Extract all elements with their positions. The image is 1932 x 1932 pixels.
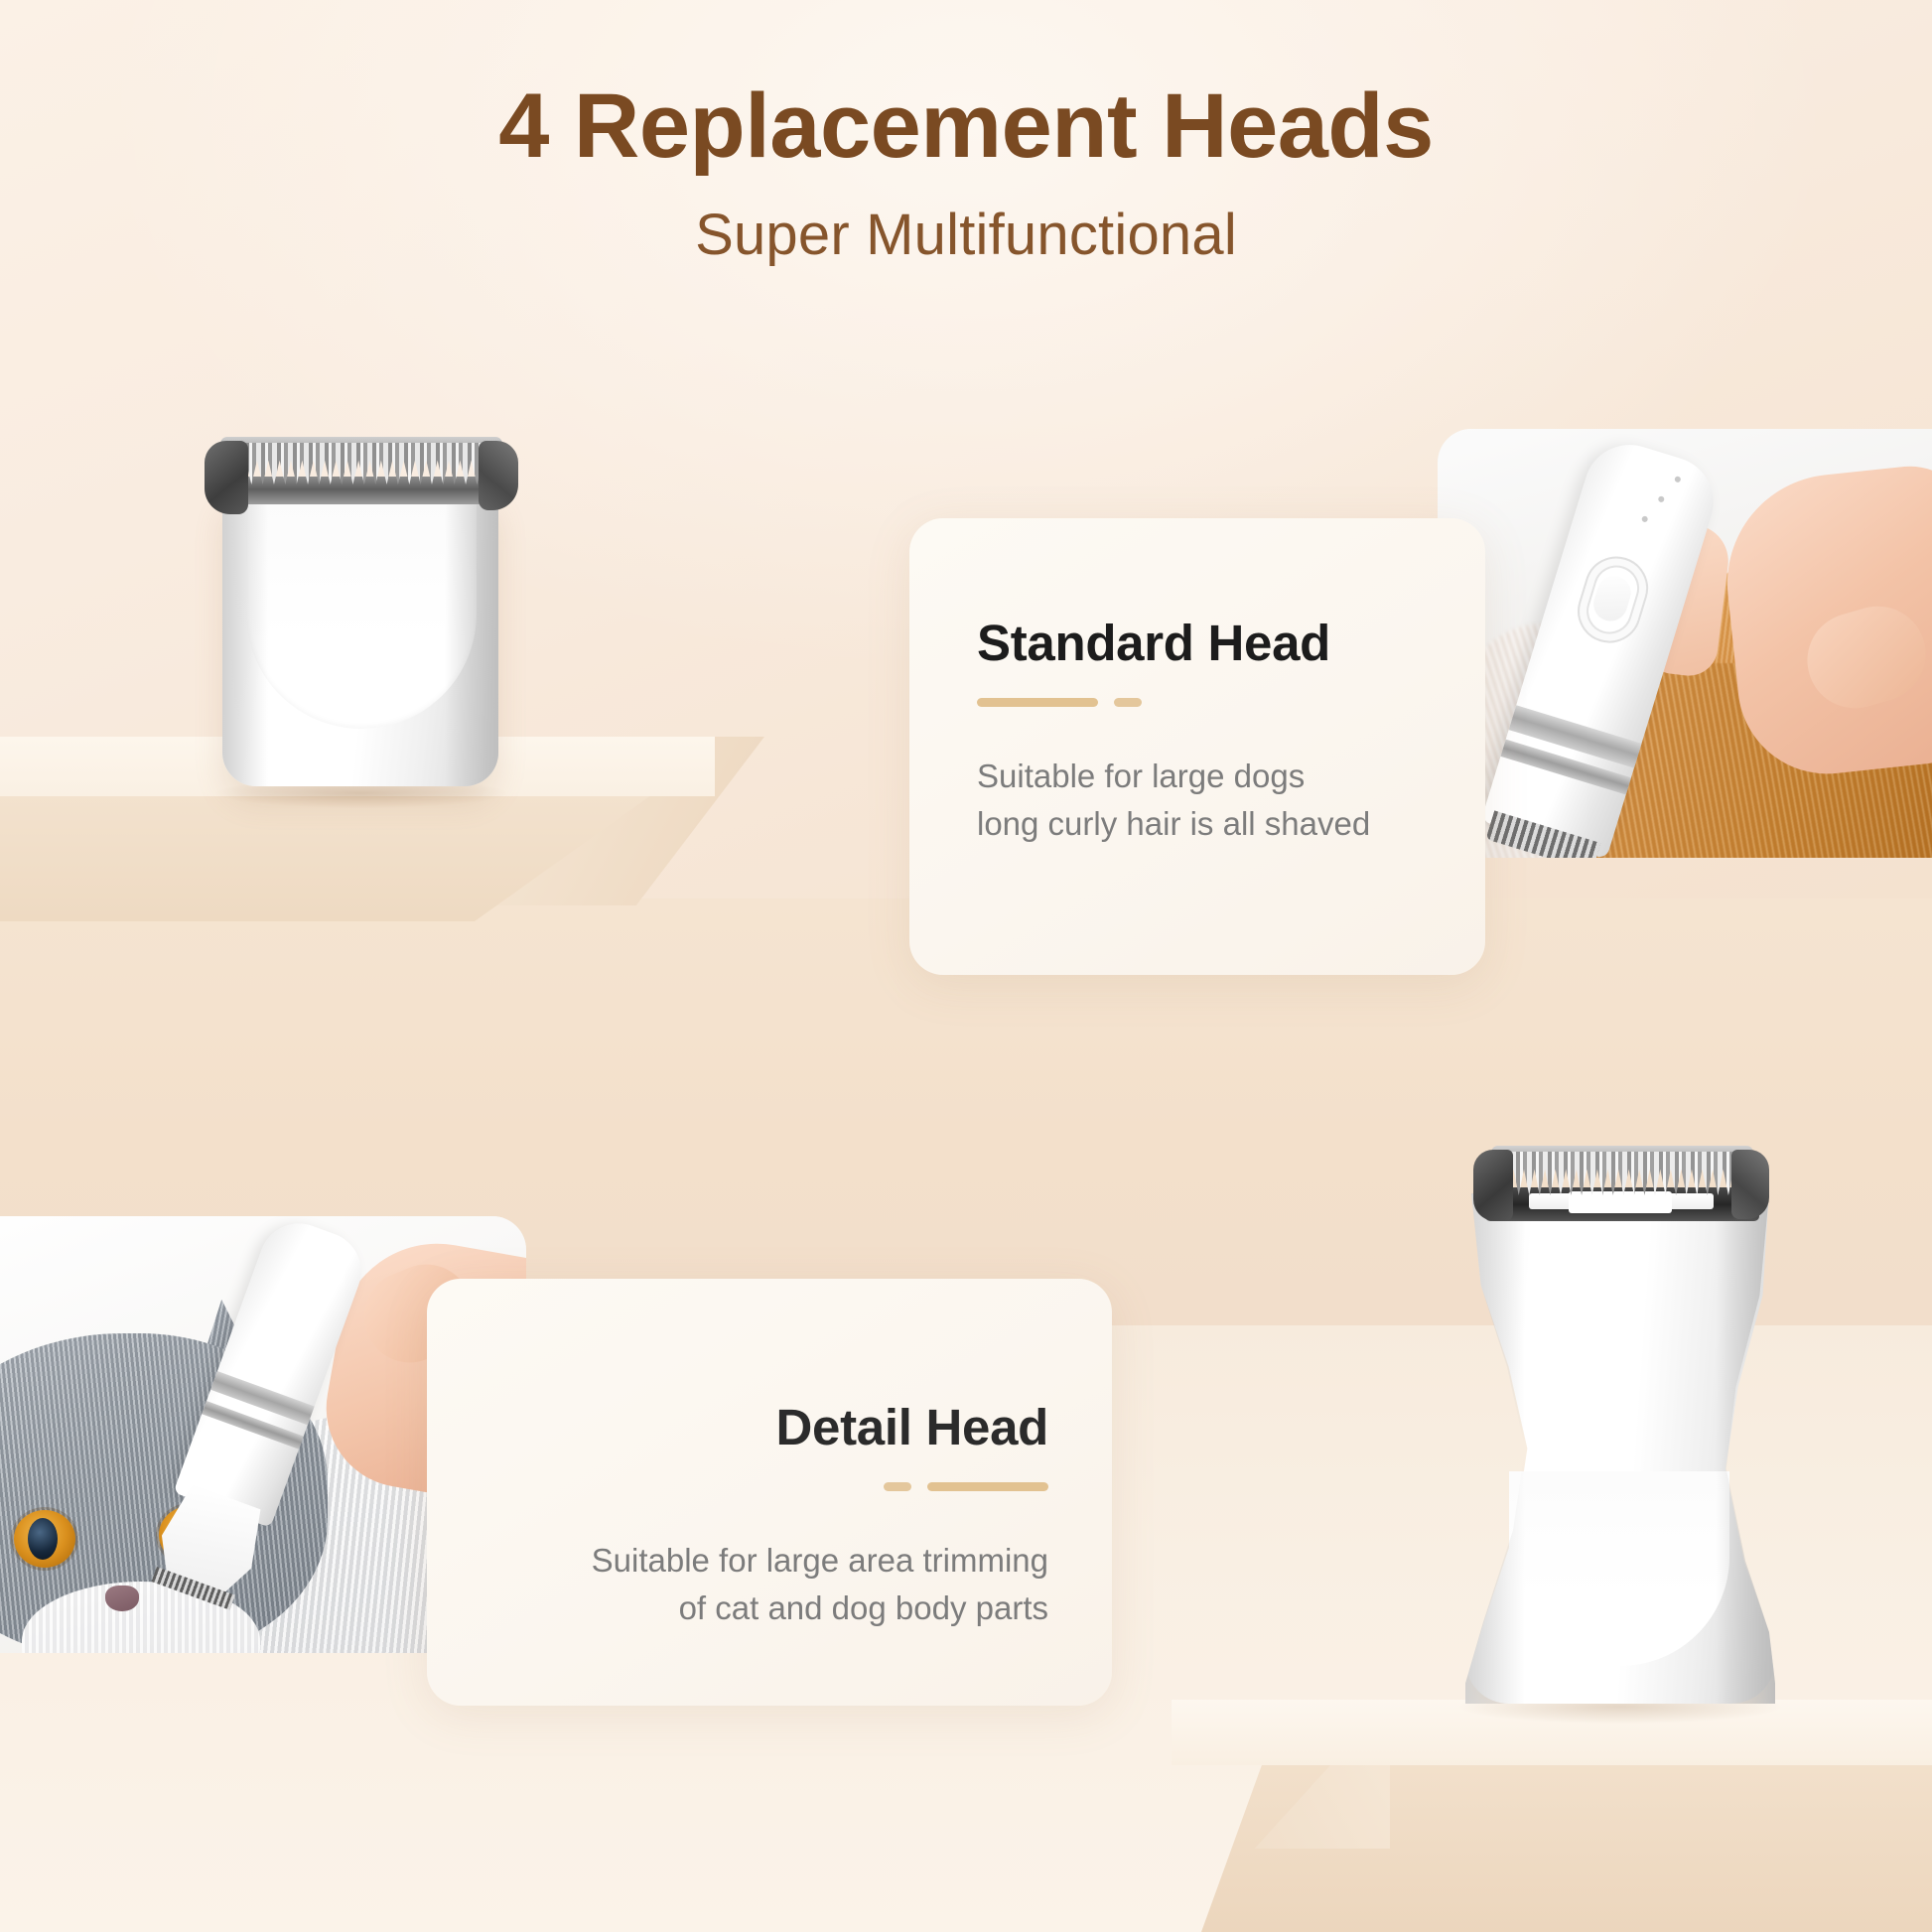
detail-head-divider <box>427 1482 1048 1491</box>
dog-grooming-photo <box>1438 429 1932 858</box>
divider-dash-short <box>884 1482 911 1491</box>
detail-clipper-blade-inlay-center <box>1569 1191 1672 1213</box>
standard-head-desc-line-2: long curly hair is all shaved <box>977 800 1485 848</box>
led-indicator-2 <box>1658 495 1665 502</box>
standard-head-divider <box>977 698 1485 707</box>
standard-head-title: Standard Head <box>977 614 1485 672</box>
detail-clipper-right-cap <box>1731 1150 1769 1219</box>
pedestal-top-front <box>0 792 655 921</box>
detail-head-desc-line-1: Suitable for large area trimming <box>427 1537 1048 1585</box>
standard-head-card: Standard Head Suitable for large dogs lo… <box>909 518 1485 975</box>
detail-head-description: Suitable for large area trimming of cat … <box>427 1537 1048 1631</box>
standard-clipper-right-shade <box>445 494 498 786</box>
pedestal-bottom-front <box>1201 1763 1932 1932</box>
product-infographic-page: 4 Replacement Heads Super Multifunctiona… <box>0 0 1932 1932</box>
standard-clipper-right-cap <box>479 441 518 510</box>
standard-clipper-left-shade <box>222 494 268 786</box>
detail-head-desc-line-2: of cat and dog body parts <box>427 1585 1048 1632</box>
led-indicator-1 <box>1674 476 1681 483</box>
page-heading: 4 Replacement Heads Super Multifunctiona… <box>0 77 1932 268</box>
divider-dash-long <box>977 698 1098 707</box>
page-subtitle: Super Multifunctional <box>0 202 1932 268</box>
detail-head-title: Detail Head <box>427 1398 1048 1456</box>
standard-head-description: Suitable for large dogs long curly hair … <box>977 753 1485 847</box>
pedestal-bottom-slope <box>1172 1700 1390 1849</box>
cat-eye-left <box>14 1510 75 1568</box>
standard-clipper-left-cap <box>205 441 248 514</box>
detail-clipper-left-shade <box>1465 1193 1525 1704</box>
page-title: 4 Replacement Heads <box>0 77 1932 176</box>
standard-head-clipper <box>195 429 528 786</box>
led-indicator-3 <box>1641 515 1648 522</box>
cat-nose <box>105 1586 139 1611</box>
divider-dash-short <box>1114 698 1142 707</box>
standard-head-desc-line-1: Suitable for large dogs <box>977 753 1485 800</box>
standard-clipper-arc-highlight <box>246 500 477 729</box>
cat-pupil-left <box>28 1518 58 1560</box>
detail-clipper-left-cap <box>1473 1150 1513 1221</box>
divider-dash-long <box>927 1482 1048 1491</box>
detail-clipper-right-shade <box>1716 1193 1775 1704</box>
detail-head-card: Detail Head Suitable for large area trim… <box>427 1279 1112 1706</box>
detail-head-clipper <box>1442 1134 1799 1706</box>
